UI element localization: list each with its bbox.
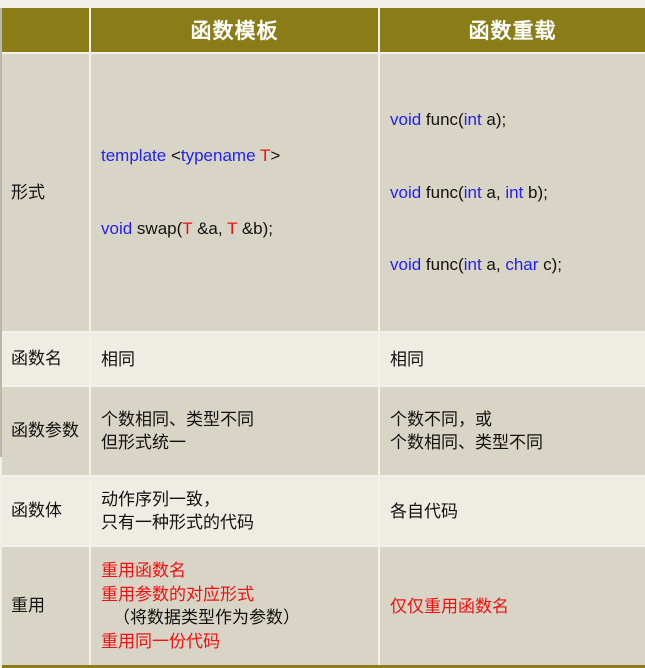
row-label-parameters: 函数参数 — [2, 386, 90, 476]
code-token: T — [260, 146, 270, 165]
code-token: a, — [486, 255, 505, 274]
cell-function-name-overload: 相同 — [379, 332, 645, 386]
row-label-function-name: 函数名 — [2, 332, 90, 386]
code-token: int — [505, 183, 528, 202]
code-token: c); — [543, 255, 562, 274]
code-token: int — [464, 255, 487, 274]
code-token: > — [270, 146, 280, 165]
code-token: typename — [181, 146, 260, 165]
reuse-line-1: 重用函数名 — [101, 559, 378, 582]
table-row-reuse: 重用 重用函数名 重用参数的对应形式 （将数据类型作为参数） 重用同一份代码 仅… — [2, 546, 645, 667]
code-line: void func(int a, int b); — [390, 181, 645, 205]
reuse-line-4: 重用同一份代码 — [101, 630, 378, 653]
code-line: void func(int a, char c); — [390, 253, 645, 277]
row-label-function-body: 函数体 — [2, 476, 90, 546]
code-token: int — [464, 183, 487, 202]
code-token: a, — [486, 183, 505, 202]
reuse-line-3: （将数据类型作为参数） — [101, 606, 300, 629]
code-token: func( — [426, 110, 464, 129]
cell-reuse-template: 重用函数名 重用参数的对应形式 （将数据类型作为参数） 重用同一份代码 — [90, 546, 379, 667]
code-token: void — [390, 183, 426, 202]
cell-function-name-template: 相同 — [90, 332, 379, 386]
code-token: &b); — [237, 219, 273, 238]
code-line: template <typename T> — [101, 144, 378, 168]
header-cell-blank — [2, 8, 90, 53]
comparison-table: 函数模板 函数重载 形式 template <typename T> void … — [2, 8, 645, 668]
cell-form-overload: void func(int a); void func(int a, int b… — [379, 53, 645, 332]
code-token: T — [182, 219, 192, 238]
code-token: template — [101, 146, 171, 165]
code-token: char — [505, 255, 543, 274]
code-token: &a, — [192, 219, 227, 238]
row-label-form: 形式 — [2, 53, 90, 332]
header-row: 函数模板 函数重载 — [2, 8, 645, 53]
code-token: < — [171, 146, 181, 165]
cell-function-body-template: 动作序列一致， 只有一种形式的代码 — [90, 476, 379, 546]
slide-canvas: 函数模板 函数重载 形式 template <typename T> void … — [0, 0, 645, 466]
code-token: int — [464, 110, 487, 129]
code-line: void func(int a); — [390, 108, 645, 132]
code-token: void — [101, 219, 137, 238]
cell-parameters-overload: 个数不同，或 个数相同、类型不同 — [379, 386, 645, 476]
code-token: a); — [486, 110, 506, 129]
code-token: swap( — [137, 219, 182, 238]
table-row-form: 形式 template <typename T> void swap(T &a,… — [2, 53, 645, 332]
code-block-overload: void func(int a); void func(int a, int b… — [390, 60, 645, 325]
code-token: void — [390, 255, 426, 274]
code-block-template: template <typename T> void swap(T &a, T … — [101, 96, 378, 289]
code-token: func( — [426, 255, 464, 274]
table-body: 形式 template <typename T> void swap(T &a,… — [2, 53, 645, 667]
header-cell-function-template: 函数模板 — [90, 8, 379, 53]
row-label-reuse: 重用 — [2, 546, 90, 667]
cell-form-template: template <typename T> void swap(T &a, T … — [90, 53, 379, 332]
code-token: void — [390, 110, 426, 129]
table-row-function-name: 函数名 相同 相同 — [2, 332, 645, 386]
cell-parameters-template: 个数相同、类型不同 但形式统一 — [90, 386, 379, 476]
table-header: 函数模板 函数重载 — [2, 8, 645, 53]
table-row-function-body: 函数体 动作序列一致， 只有一种形式的代码 各自代码 — [2, 476, 645, 546]
code-line: void swap(T &a, T &b); — [101, 217, 378, 241]
cell-reuse-overload: 仅仅重用函数名 — [379, 546, 645, 667]
code-token: func( — [426, 183, 464, 202]
code-token: b); — [528, 183, 548, 202]
header-cell-function-overload: 函数重载 — [379, 8, 645, 53]
cell-function-body-overload: 各自代码 — [379, 476, 645, 546]
code-token: T — [227, 219, 237, 238]
table-row-parameters: 函数参数 个数相同、类型不同 但形式统一 个数不同，或 个数相同、类型不同 — [2, 386, 645, 476]
reuse-line-2: 重用参数的对应形式 — [101, 583, 378, 606]
